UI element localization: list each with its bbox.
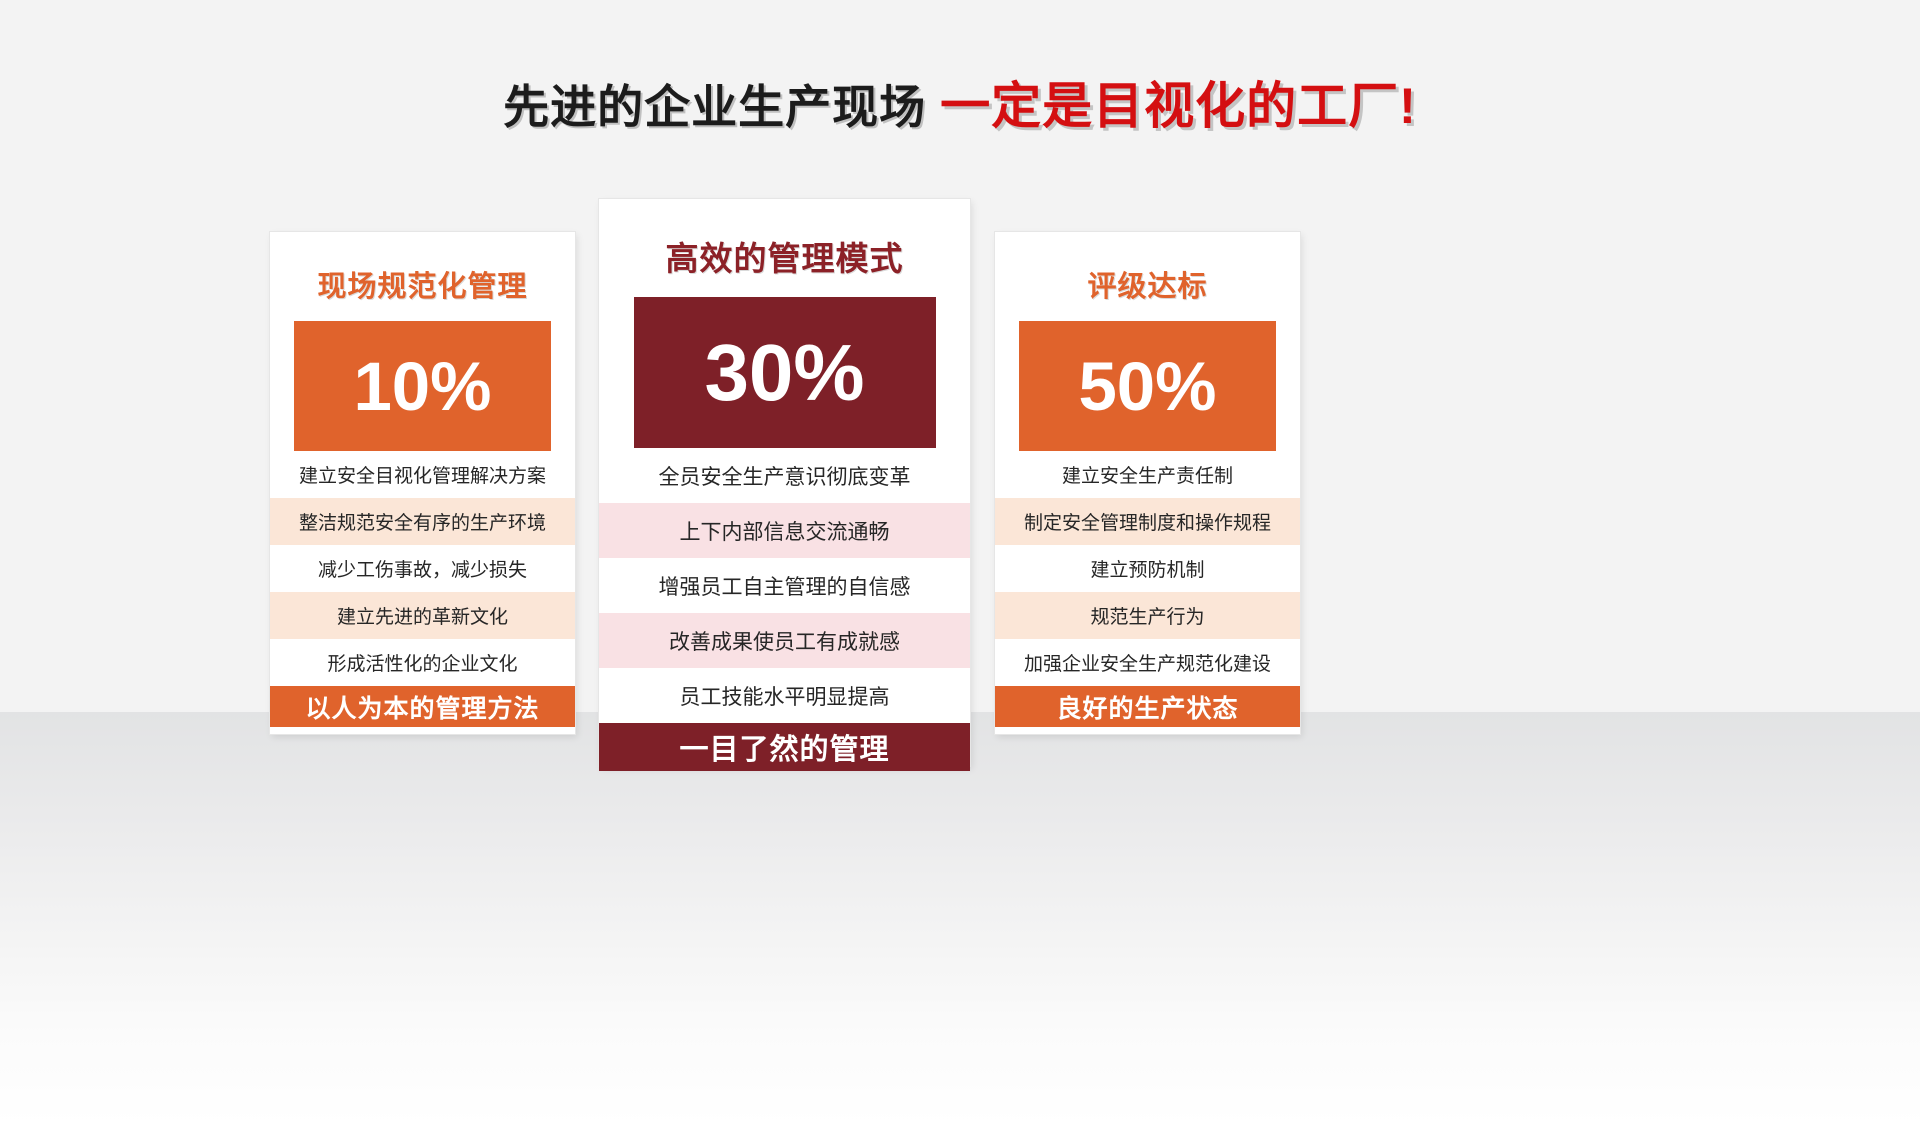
- list-item: 建立安全生产责任制: [995, 451, 1300, 498]
- benefit-list: 建立安全目视化管理解决方案 整洁规范安全有序的生产环境 减少工伤事故，减少损失 …: [270, 451, 575, 686]
- card-heading: 现场规范化管理: [270, 232, 575, 305]
- list-item: 上下内部信息交流通畅: [599, 503, 970, 558]
- card-heading: 评级达标: [995, 232, 1300, 305]
- page-title: 先进的企业生产现场一定是目视化的工厂!: [0, 66, 1920, 138]
- list-item: 建立预防机制: [995, 545, 1300, 592]
- card-footer-banner: 一目了然的管理: [599, 723, 970, 771]
- list-item: 形成活性化的企业文化: [270, 639, 575, 686]
- percentage-badge: 10%: [294, 321, 551, 451]
- card-footer-banner: 良好的生产状态: [995, 686, 1300, 727]
- background-gradient-band: [0, 712, 1920, 1125]
- list-item: 建立先进的革新文化: [270, 592, 575, 639]
- card-site-standardized-management[interactable]: 现场规范化管理 10% 建立安全目视化管理解决方案 整洁规范安全有序的生产环境 …: [270, 232, 575, 734]
- page-title-black-segment: 先进的企业生产现场: [503, 81, 926, 133]
- list-item: 加强企业安全生产规范化建设: [995, 639, 1300, 686]
- percentage-value: 50%: [1078, 347, 1216, 426]
- card-rating-compliance[interactable]: 评级达标 50% 建立安全生产责任制 制定安全管理制度和操作规程 建立预防机制 …: [995, 232, 1300, 734]
- list-item: 全员安全生产意识彻底变革: [599, 448, 970, 503]
- list-item: 员工技能水平明显提高: [599, 668, 970, 723]
- benefit-list: 建立安全生产责任制 制定安全管理制度和操作规程 建立预防机制 规范生产行为 加强…: [995, 451, 1300, 686]
- benefit-list: 全员安全生产意识彻底变革 上下内部信息交流通畅 增强员工自主管理的自信感 改善成…: [599, 448, 970, 723]
- card-heading: 高效的管理模式: [599, 199, 970, 280]
- percentage-value: 10%: [353, 347, 491, 426]
- card-footer-banner: 以人为本的管理方法: [270, 686, 575, 727]
- list-item: 整洁规范安全有序的生产环境: [270, 498, 575, 545]
- card-efficient-management-model[interactable]: 高效的管理模式 30% 全员安全生产意识彻底变革 上下内部信息交流通畅 增强员工…: [599, 199, 970, 766]
- list-item: 减少工伤事故，减少损失: [270, 545, 575, 592]
- percentage-value: 30%: [704, 327, 864, 419]
- percentage-badge: 50%: [1019, 321, 1276, 451]
- list-item: 制定安全管理制度和操作规程: [995, 498, 1300, 545]
- list-item: 增强员工自主管理的自信感: [599, 558, 970, 613]
- list-item: 改善成果使员工有成就感: [599, 613, 970, 668]
- percentage-badge: 30%: [634, 297, 936, 448]
- list-item: 建立安全目视化管理解决方案: [270, 451, 575, 498]
- page-title-red-segment: 一定是目视化的工厂!: [940, 78, 1417, 134]
- list-item: 规范生产行为: [995, 592, 1300, 639]
